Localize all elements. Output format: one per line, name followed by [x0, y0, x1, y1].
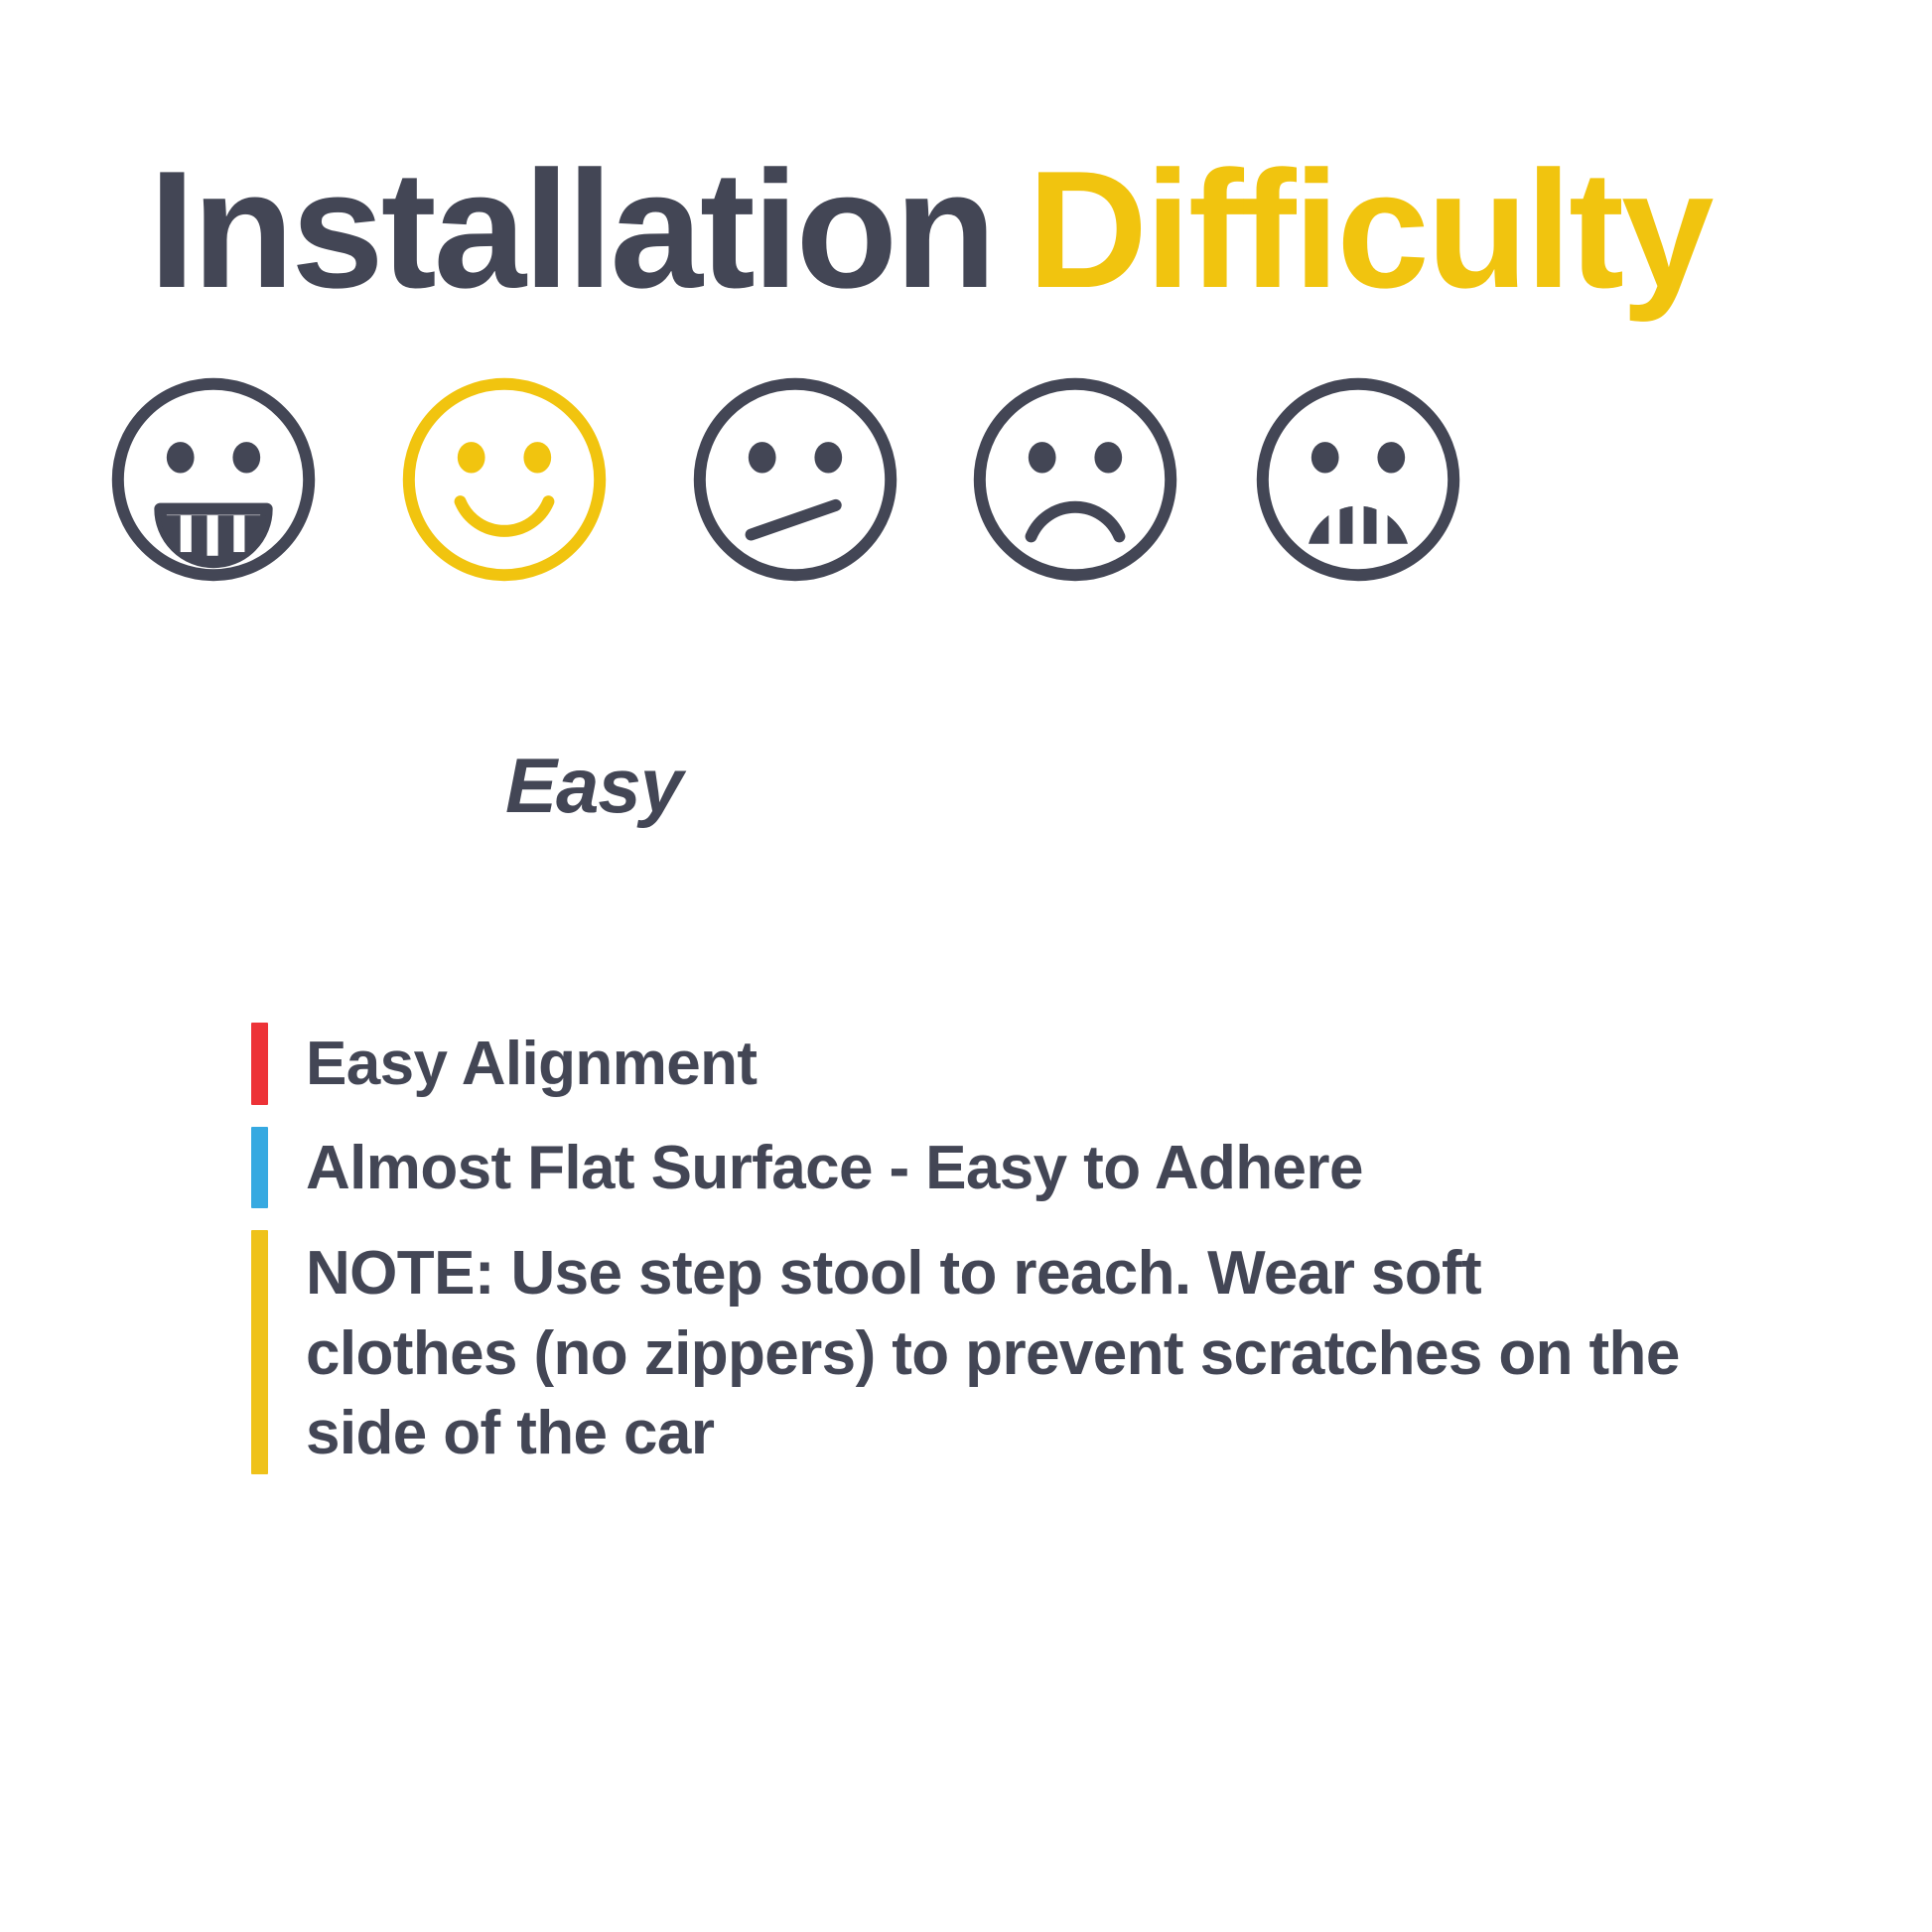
- installation-difficulty-card: InstallationDifficulty: [0, 0, 1932, 1932]
- rating-option-very-hard[interactable]: [1248, 369, 1468, 590]
- note-accent-bar-red: [251, 1023, 268, 1105]
- frowning-face-icon: [965, 369, 1185, 590]
- note-accent-bar-blue: [251, 1127, 268, 1209]
- note-text-easy-alignment: Easy Alignment: [306, 1023, 1691, 1105]
- rating-option-easy[interactable]: [394, 369, 615, 590]
- rating-option-moderate[interactable]: [685, 369, 905, 590]
- list-item: Almost Flat Surface - Easy to Adhere: [251, 1127, 1691, 1209]
- note-accent-bar-yellow: [251, 1230, 268, 1474]
- page-title: InstallationDifficulty: [149, 134, 1711, 326]
- selected-difficulty-label: Easy: [505, 747, 682, 824]
- list-item: NOTE: Use step stool to reach. Wear soft…: [251, 1230, 1691, 1474]
- note-text-flat-surface: Almost Flat Surface - Easy to Adhere: [306, 1127, 1691, 1209]
- grinning-face-icon: [103, 369, 324, 590]
- title-primary: Installation: [149, 136, 994, 323]
- title-accent: Difficulty: [1028, 136, 1712, 323]
- notes-list: Easy Alignment Almost Flat Surface - Eas…: [251, 1023, 1691, 1496]
- rating-option-hard[interactable]: [965, 369, 1185, 590]
- note-text-caution: NOTE: Use step stool to reach. Wear soft…: [306, 1230, 1691, 1474]
- grimacing-face-icon: [1248, 369, 1468, 590]
- smiling-face-icon: [394, 369, 615, 590]
- rating-option-very-easy[interactable]: [103, 369, 324, 590]
- neutral-face-icon: [685, 369, 905, 590]
- list-item: Easy Alignment: [251, 1023, 1691, 1105]
- difficulty-rating-scale: [103, 369, 1831, 598]
